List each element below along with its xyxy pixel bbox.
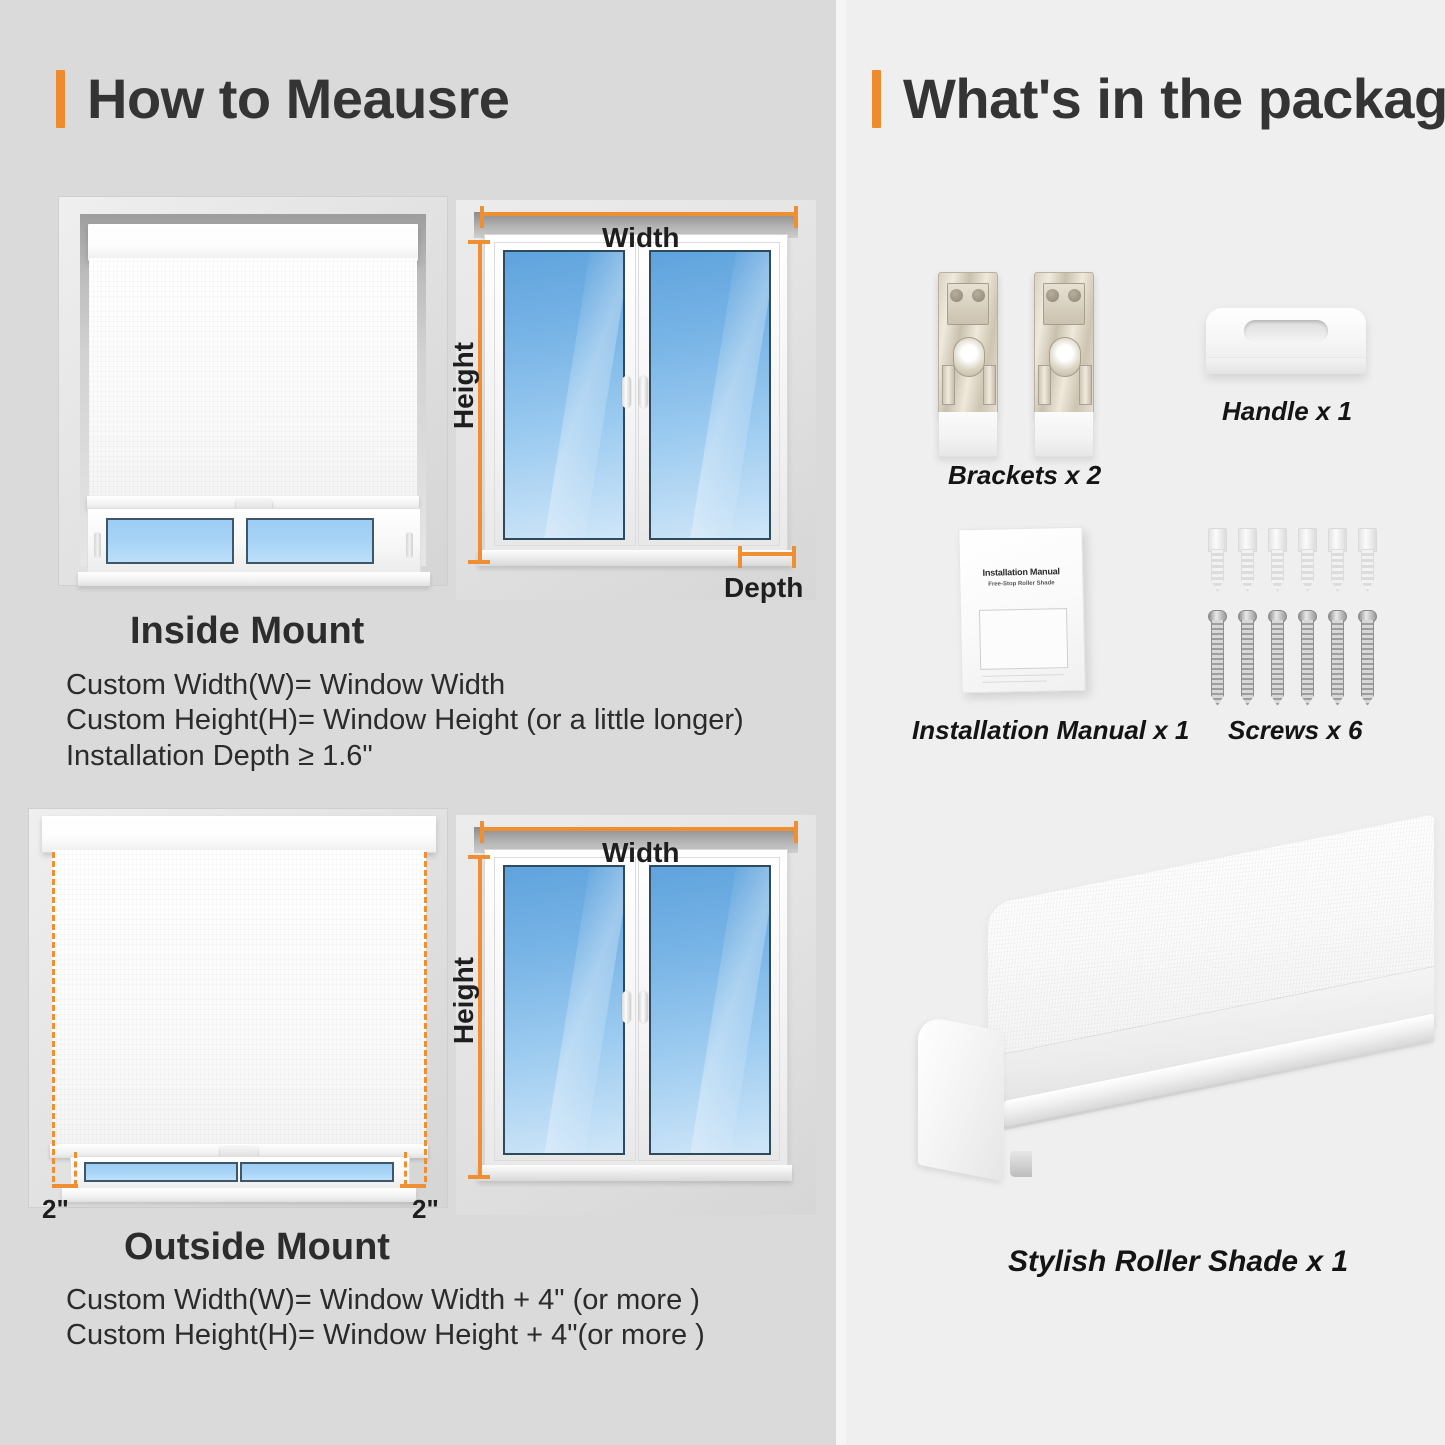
width-dimension-line	[480, 212, 798, 216]
handle-icon	[1206, 308, 1366, 374]
overhang-left-guide	[52, 852, 55, 1182]
window-glass-right	[649, 865, 771, 1155]
shade-valance	[88, 224, 418, 261]
overhang-right-line	[400, 1184, 426, 1188]
roller-shade-label: Stylish Roller Shade x 1	[1008, 1245, 1348, 1279]
window-glass-left	[84, 1162, 238, 1182]
shade-valance	[42, 816, 436, 853]
inside-mount-instructions: Custom Width(W)= Window Width Custom Hei…	[66, 668, 744, 774]
outside-mount-line-2: Custom Height(H)= Window Height + 4"(or …	[66, 1318, 705, 1353]
wall-anchor-icon	[1208, 528, 1225, 590]
window-handle-right-icon	[639, 376, 648, 408]
window-glass-left	[503, 250, 625, 540]
height-dimension-cap-top	[468, 855, 490, 859]
panel-divider	[836, 0, 846, 1445]
window-glass-left	[106, 518, 234, 564]
package-contents-heading: What's in the package	[872, 70, 1445, 128]
outside-mount-instructions: Custom Width(W)= Window Width + 4" (or m…	[66, 1283, 705, 1354]
bracket-2-icon	[1034, 272, 1094, 414]
installation-manual-label: Installation Manual x 1	[912, 715, 1189, 746]
wall-anchor-icon	[1268, 528, 1285, 590]
depth-dimension-cap-left	[738, 546, 742, 568]
installation-manual-icon: Installation Manual Free-Stop Roller Sha…	[958, 527, 1085, 694]
bracket-hole	[950, 289, 963, 302]
inside-mount-line-2: Custom Height(H)= Window Height (or a li…	[66, 703, 744, 738]
width-dimension-cap-left	[480, 206, 484, 228]
bracket-1-icon	[938, 272, 998, 414]
inside-mount-window-diagram: Width Height Depth	[456, 200, 816, 600]
handle-label: Handle x 1	[1222, 396, 1352, 427]
inside-mount-shade-illustration	[58, 196, 448, 586]
height-dimension-cap-bottom	[468, 1175, 490, 1179]
shade-fabric	[89, 258, 417, 502]
width-dimension-line	[480, 827, 798, 831]
infographic-page: How to Meausre Width	[0, 0, 1445, 1445]
outside-mount-window-diagram: Width Height	[456, 815, 816, 1215]
wall-anchor-icon	[1328, 528, 1345, 590]
package-contents-heading-text: What's in the package	[903, 71, 1445, 127]
overhang-right-label: 2"	[412, 1194, 439, 1225]
roller-shade-image	[918, 905, 1434, 1215]
height-dimension-cap-bottom	[468, 560, 490, 564]
roller-shade-tube-cap	[1010, 1151, 1032, 1177]
bracket-1-foot	[938, 412, 998, 457]
handle-lip	[1206, 357, 1366, 374]
width-dimension-label: Width	[602, 837, 680, 869]
wall-anchor-icon	[1298, 528, 1315, 590]
overhang-left-line	[52, 1184, 78, 1188]
inside-mount-title: Inside Mount	[130, 610, 364, 653]
outside-mount-shade-illustration: 2" 2"	[28, 808, 448, 1208]
bracket-2-foot	[1034, 412, 1094, 457]
window-handle-left-icon	[622, 376, 631, 408]
height-dimension-label: Height	[448, 342, 480, 429]
window-sill	[62, 1188, 416, 1202]
window-sill	[478, 1165, 792, 1181]
window-glass-right	[246, 518, 374, 564]
window-glass-right	[649, 250, 771, 540]
window-hinge-right-icon	[406, 532, 413, 558]
screw-icon	[1268, 610, 1285, 706]
manual-cover-rule	[982, 674, 1064, 677]
width-dimension-cap-right	[794, 821, 798, 843]
shade-fabric	[52, 850, 426, 1150]
bracket-hole	[972, 289, 985, 302]
accent-bar-icon	[872, 70, 881, 128]
overhang-left-inner-guide	[74, 1152, 77, 1186]
how-to-measure-heading: How to Meausre	[56, 70, 509, 128]
bracket-tab	[1079, 365, 1092, 405]
manual-cover-subtitle: Free-Stop Roller Shade	[968, 580, 1074, 588]
wall-anchor-icon	[1238, 528, 1255, 590]
overhang-left-label: 2"	[42, 1194, 69, 1225]
manual-cover-rule	[982, 681, 1046, 683]
inside-mount-line-3: Installation Depth ≥ 1.6"	[66, 739, 744, 774]
depth-dimension-label: Depth	[724, 572, 803, 604]
width-dimension-cap-left	[480, 821, 484, 843]
how-to-measure-heading-text: How to Meausre	[87, 71, 509, 127]
width-dimension-cap-right	[794, 206, 798, 228]
screw-icon	[1298, 610, 1315, 706]
manual-cover-diagram	[979, 608, 1068, 670]
window-glass-right	[240, 1162, 394, 1182]
inside-mount-line-1: Custom Width(W)= Window Width	[66, 668, 744, 703]
height-dimension-label: Height	[448, 957, 480, 1044]
bracket-tab	[1038, 365, 1051, 405]
outside-mount-title: Outside Mount	[124, 1226, 390, 1269]
depth-dimension-line	[738, 552, 796, 556]
bracket-tab	[942, 365, 955, 405]
manual-cover-title: Installation Manual	[968, 566, 1074, 578]
wall-anchor-icon	[1358, 528, 1375, 590]
outside-mount-line-1: Custom Width(W)= Window Width + 4" (or m…	[66, 1283, 705, 1318]
window-glass-left	[503, 865, 625, 1155]
overhang-right-guide	[424, 852, 427, 1182]
handle-slot	[1244, 320, 1328, 342]
window-sill	[78, 572, 430, 586]
screw-icon	[1328, 610, 1345, 706]
brackets-label: Brackets x 2	[948, 460, 1101, 491]
depth-dimension-cap-right	[792, 546, 796, 568]
screw-icon	[1208, 610, 1225, 706]
overhang-right-inner-guide	[404, 1152, 407, 1186]
bracket-hole	[1046, 289, 1059, 302]
window-handle-left-icon	[622, 991, 631, 1023]
bracket-hole	[1068, 289, 1081, 302]
width-dimension-label: Width	[602, 222, 680, 254]
window-hinge-left-icon	[94, 532, 101, 558]
roller-shade-end-cap	[918, 1015, 1004, 1182]
window-handle-right-icon	[639, 991, 648, 1023]
screw-icon	[1238, 610, 1255, 706]
accent-bar-icon	[56, 70, 65, 128]
screws-label: Screws x 6	[1228, 715, 1362, 746]
bracket-tab	[983, 365, 996, 405]
screw-icon	[1358, 610, 1375, 706]
height-dimension-cap-top	[468, 240, 490, 244]
